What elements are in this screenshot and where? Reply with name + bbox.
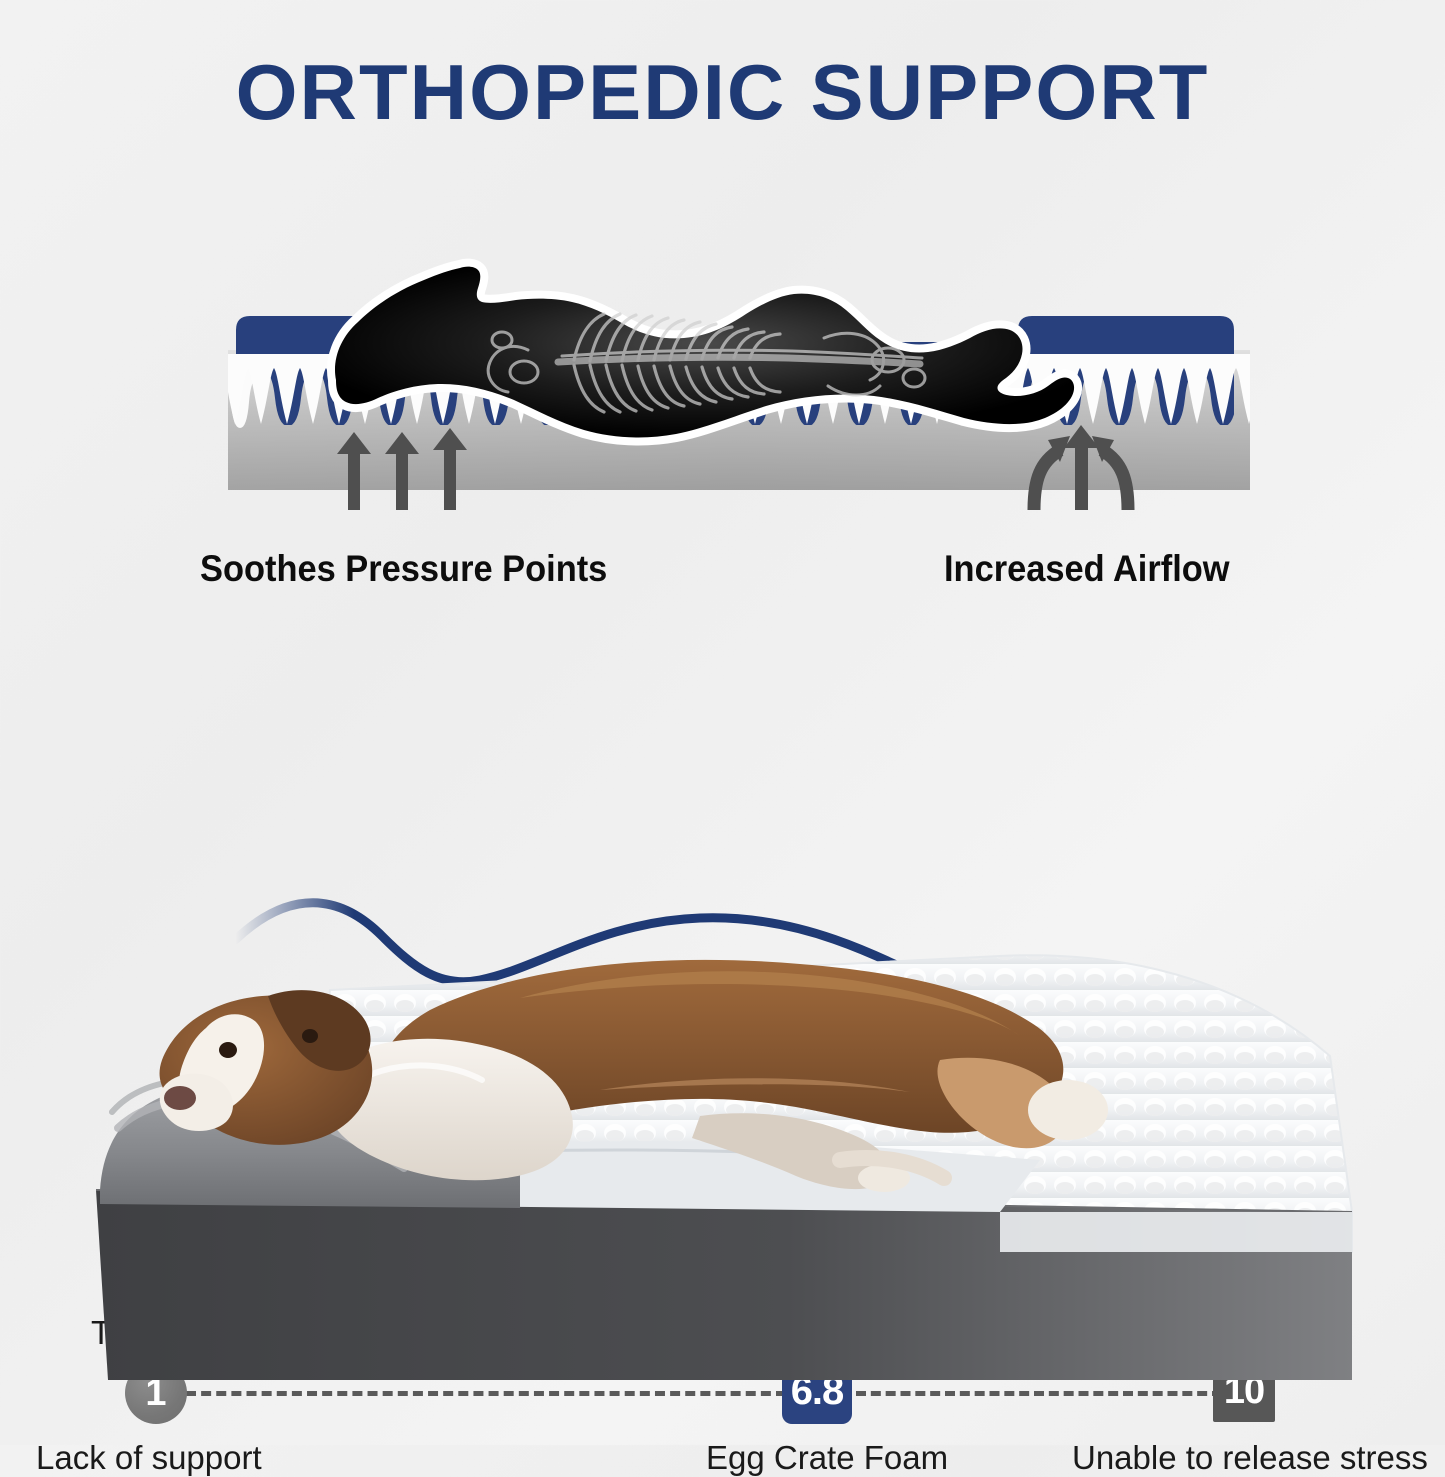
page-title: ORTHOPEDIC SUPPORT (0, 52, 1445, 134)
dog-eye-far (302, 1029, 318, 1043)
airflow-label: Increased Airflow (944, 548, 1230, 590)
dog-rear-paw (1028, 1080, 1108, 1140)
dog-eye-near (219, 1042, 237, 1058)
up-arrows-icon (337, 428, 467, 510)
infographic-root: ORTHOPEDIC SUPPORT (0, 0, 1445, 1445)
product-photo (0, 860, 1445, 1445)
pressure-points-label: Soothes Pressure Points (200, 548, 607, 590)
dog-nose (164, 1086, 196, 1110)
firmness-scale: Too soft Moderate hardness Too hard 1 6.… (0, 648, 1445, 838)
foam-cross-section-diagram (228, 210, 1250, 510)
